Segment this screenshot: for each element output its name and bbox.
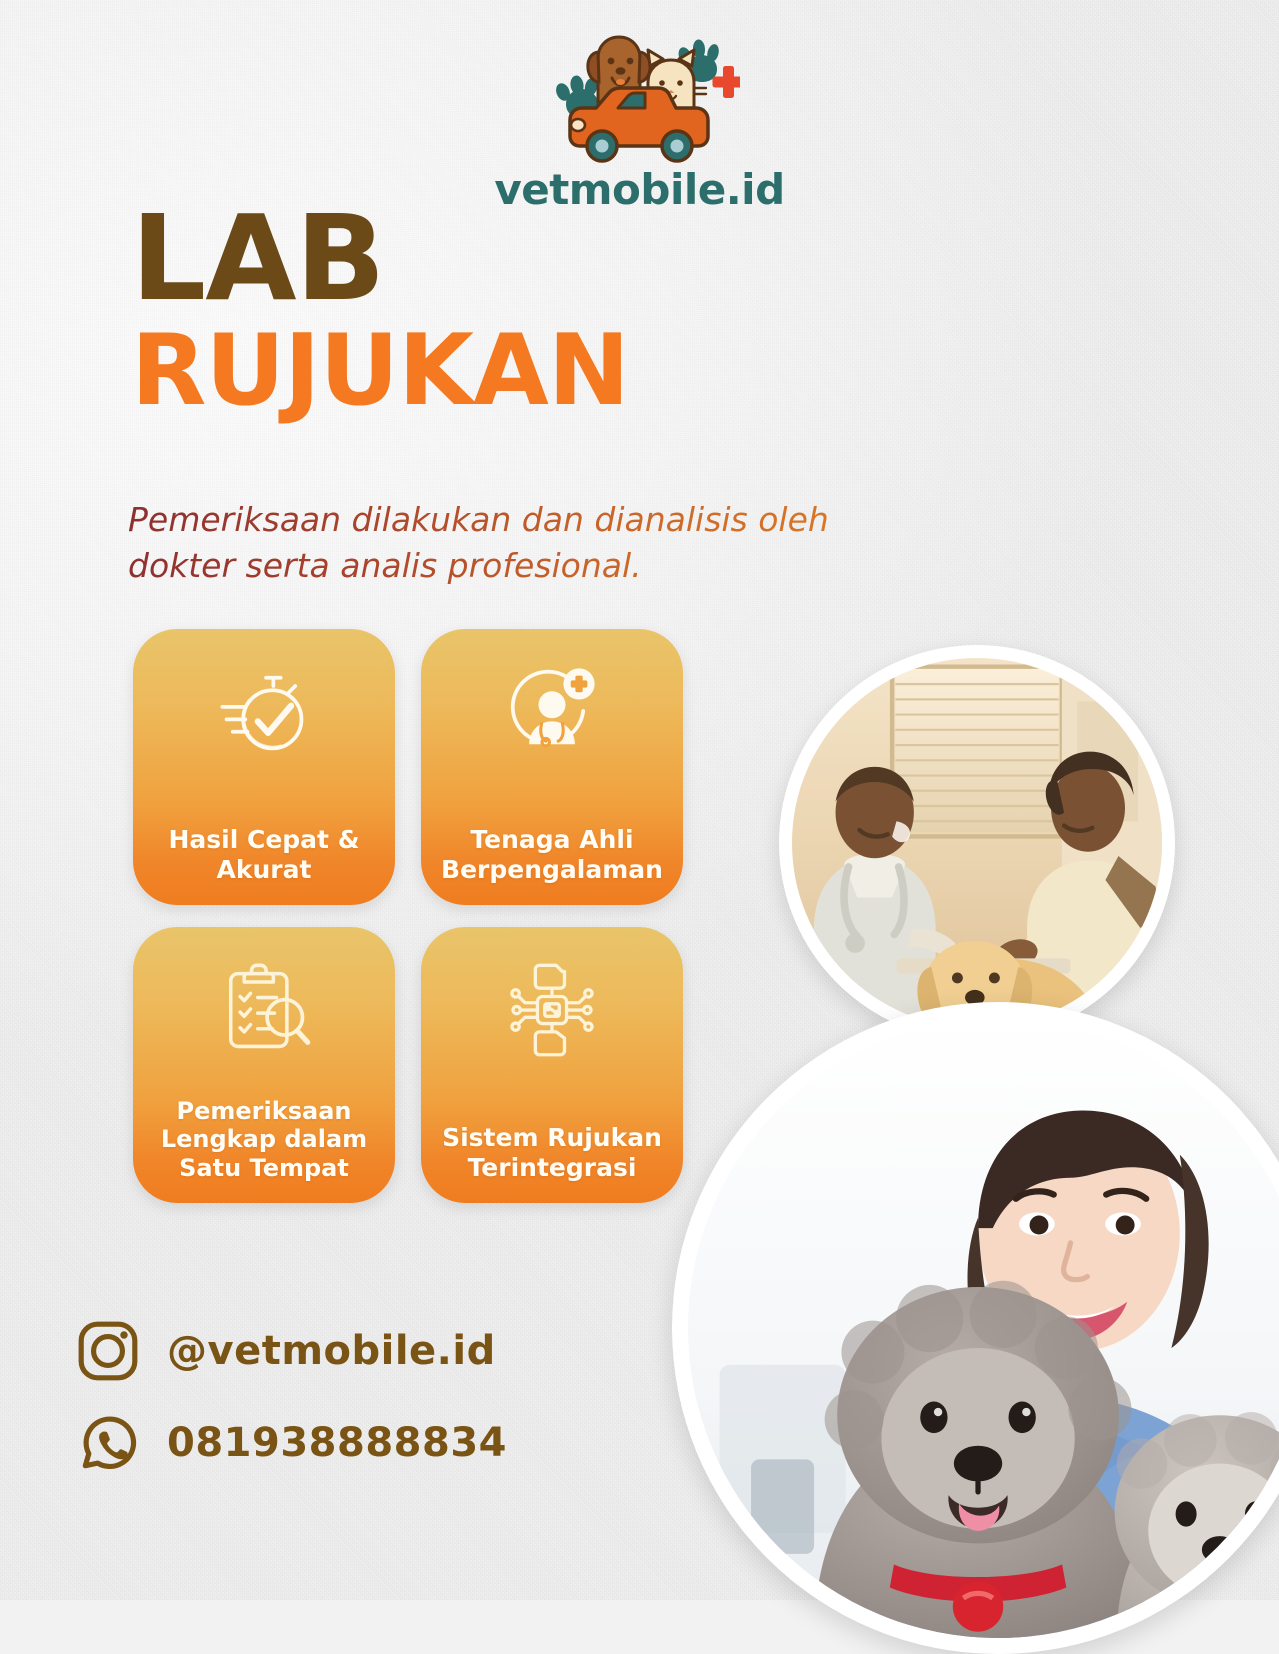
subtitle-line-1: Pemeriksaan dilakukan dan dianalisis ole… <box>128 497 888 543</box>
photo-frame <box>688 1018 1279 1638</box>
feature-card-label: Sistem RujukanTerintegrasi <box>430 1123 674 1183</box>
instagram-handle: @vetmobile.id <box>167 1328 496 1374</box>
doctor-stethoscope-cross-icon <box>500 659 604 763</box>
brand-logo: vetmobile.id <box>0 28 1279 214</box>
whatsapp-number: 081938888834 <box>167 1420 507 1466</box>
clipboard-checklist-magnifier-icon <box>212 957 316 1061</box>
feature-card-label: Tenaga AhliBerpengalaman <box>429 825 675 885</box>
photo-illustration <box>792 658 1162 1028</box>
feature-card-grid: Hasil Cepat &Akurat Tenaga AhliBerpengal… <box>133 629 706 1203</box>
whatsapp-row[interactable]: 081938888834 <box>75 1410 507 1476</box>
circuit-network-chip-icon <box>500 957 604 1061</box>
whatsapp-icon <box>75 1410 141 1476</box>
feature-card-label: PemeriksaanLengkap dalamSatu Tempat <box>149 1097 379 1183</box>
page-title: LAB RUJUKAN <box>131 204 629 420</box>
feature-card-hasil-cepat[interactable]: Hasil Cepat &Akurat <box>133 629 395 905</box>
vet-client-golden-retriever-photo <box>779 645 1175 1041</box>
dog-cat-in-car-logo-icon <box>540 28 740 163</box>
feature-card-pemeriksaan-lengkap[interactable]: PemeriksaanLengkap dalamSatu Tempat <box>133 927 395 1203</box>
instagram-icon <box>75 1318 141 1384</box>
subtitle: Pemeriksaan dilakukan dan dianalisis ole… <box>128 497 888 588</box>
feature-card-tenaga-ahli[interactable]: Tenaga AhliBerpengalaman <box>421 629 683 905</box>
feature-card-sistem-rujukan[interactable]: Sistem RujukanTerintegrasi <box>421 927 683 1203</box>
photo-frame <box>792 658 1162 1028</box>
title-line-lab: LAB <box>131 204 629 314</box>
subtitle-line-2: dokter serta analis profesional. <box>128 543 888 589</box>
instagram-row[interactable]: @vetmobile.id <box>75 1318 507 1384</box>
feature-card-label: Hasil Cepat &Akurat <box>156 825 371 885</box>
stopwatch-check-icon <box>212 659 316 763</box>
contact-block: @vetmobile.id 081938888834 <box>75 1318 507 1502</box>
photo-illustration <box>688 1018 1279 1638</box>
title-line-rujukan: RUJUKAN <box>131 322 629 420</box>
